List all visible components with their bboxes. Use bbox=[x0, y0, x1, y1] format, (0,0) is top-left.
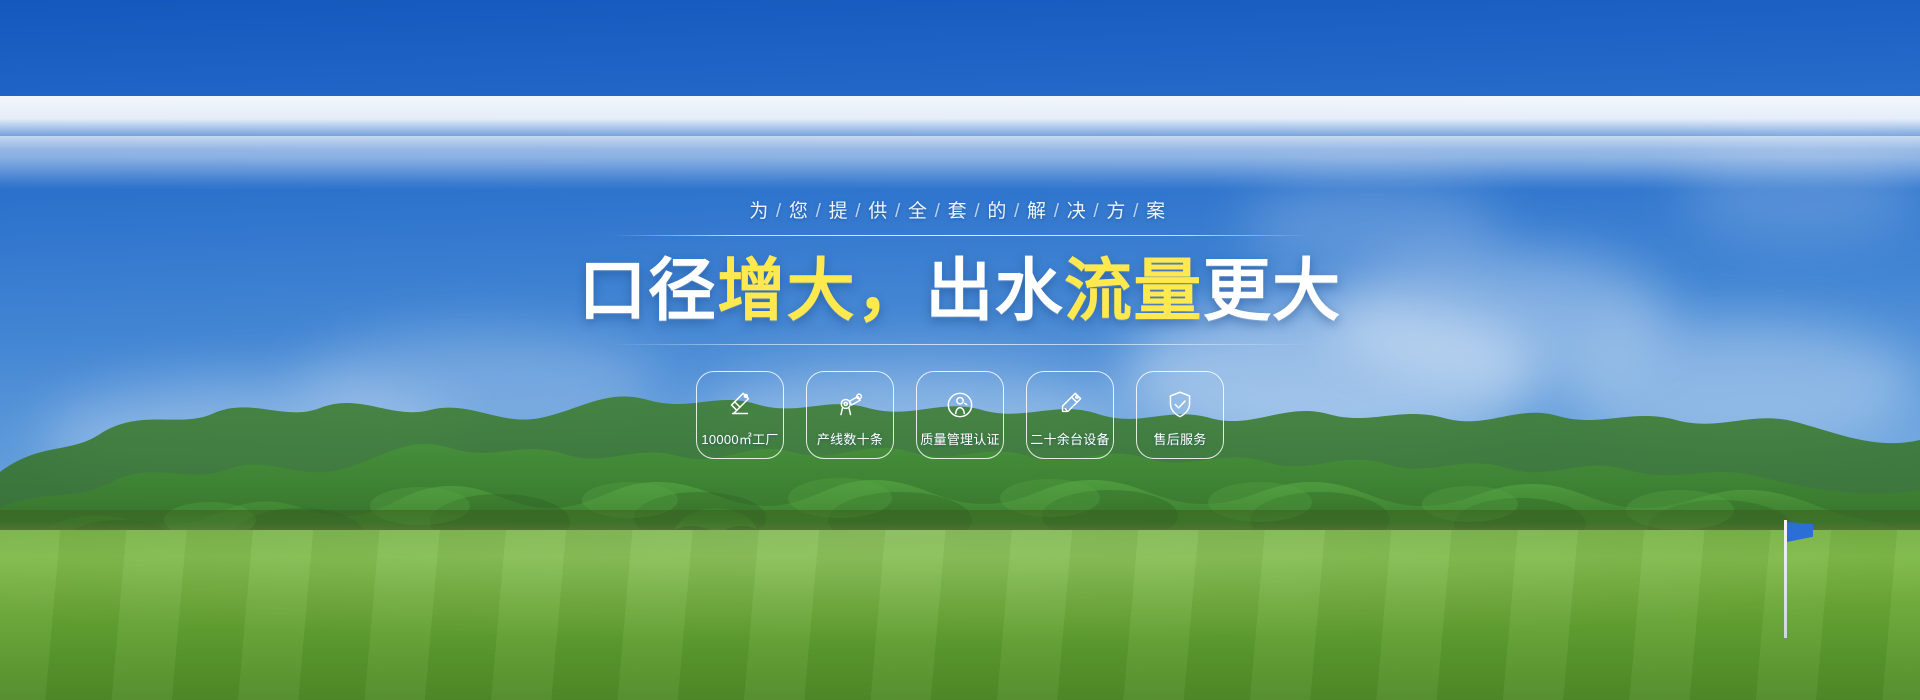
equipment-icon bbox=[1053, 388, 1087, 422]
subline-char: 套 bbox=[948, 201, 973, 222]
subline-char: 供 bbox=[868, 201, 893, 222]
subline-char: 全 bbox=[908, 201, 933, 222]
badge-production-line[interactable]: 产线数十条 bbox=[806, 371, 894, 459]
subline-char: 的 bbox=[987, 201, 1012, 222]
chinese-subline: 为/您/提/供/全/套/的/解/决/方/案 bbox=[0, 196, 1920, 223]
badge-after-sales-service[interactable]: 售后服务 bbox=[1136, 371, 1224, 459]
shield-check-icon bbox=[1163, 388, 1197, 422]
english-title: INTEGRATED SEWAGE TREATMENT bbox=[0, 96, 1920, 188]
badge-label: 10000㎡工厂 bbox=[701, 429, 778, 448]
feature-badges: 10000㎡工厂 产线数十条 bbox=[0, 371, 1920, 459]
headline-segment: 增大 bbox=[717, 253, 856, 329]
subline-char: 您 bbox=[789, 201, 814, 222]
subline-char: 提 bbox=[829, 201, 854, 222]
quality-certificate-icon bbox=[943, 388, 977, 422]
subline-char: 解 bbox=[1027, 201, 1052, 222]
subline-char: 为 bbox=[749, 201, 774, 222]
production-line-icon bbox=[833, 388, 867, 422]
subline-separator: / bbox=[1091, 201, 1106, 222]
green-lawn bbox=[0, 530, 1920, 700]
badge-factory[interactable]: 10000㎡工厂 bbox=[696, 371, 784, 459]
subline-separator: / bbox=[1131, 201, 1146, 222]
badge-label: 售后服务 bbox=[1153, 429, 1206, 448]
subline-char: 案 bbox=[1146, 201, 1171, 222]
subline-separator: / bbox=[853, 201, 868, 222]
banner-content: INTEGRATED SEWAGE TREATMENT 为/您/提/供/全/套/… bbox=[0, 96, 1920, 459]
headline-segment: 流量 bbox=[1064, 253, 1203, 329]
headline-segment: ， bbox=[856, 253, 925, 329]
subline-separator: / bbox=[814, 201, 829, 222]
subline-separator: / bbox=[893, 201, 908, 222]
golf-flag-icon bbox=[1768, 520, 1808, 638]
microscope-icon bbox=[723, 388, 757, 422]
divider-bottom bbox=[610, 344, 1310, 345]
headline-segment: 出水 bbox=[925, 253, 1064, 329]
divider-top bbox=[610, 235, 1310, 236]
subline-separator: / bbox=[1052, 201, 1067, 222]
subline-char: 方 bbox=[1106, 201, 1131, 222]
subline-separator: / bbox=[1012, 201, 1027, 222]
subline-separator: / bbox=[933, 201, 948, 222]
english-title-line2: SEWAGE TREATMENT bbox=[0, 136, 1920, 190]
headline-segment: 更大 bbox=[1203, 253, 1342, 329]
subline-char: 决 bbox=[1067, 201, 1092, 222]
subline-separator: / bbox=[972, 201, 987, 222]
hero-banner: INTEGRATED SEWAGE TREATMENT 为/您/提/供/全/套/… bbox=[0, 0, 1920, 700]
badge-equipment[interactable]: 二十余台设备 bbox=[1026, 371, 1114, 459]
headline: 口径增大，出水流量更大 bbox=[0, 248, 1920, 334]
badge-label: 质量管理认证 bbox=[920, 429, 1000, 448]
badge-label: 二十余台设备 bbox=[1030, 429, 1110, 448]
badge-quality-certificate[interactable]: 质量管理认证 bbox=[916, 371, 1004, 459]
subline-separator: / bbox=[774, 201, 789, 222]
badge-label: 产线数十条 bbox=[817, 429, 883, 448]
headline-segment: 口径 bbox=[578, 253, 717, 329]
